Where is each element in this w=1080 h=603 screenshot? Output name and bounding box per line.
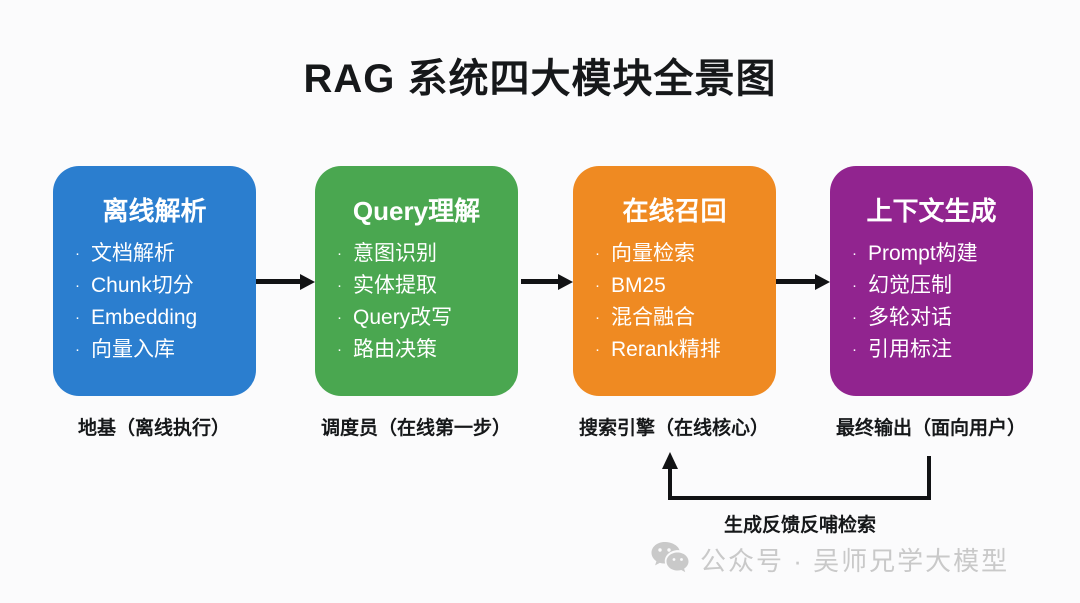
module-list-item: ·混合融合 [595, 302, 776, 334]
module-caption-online-retrieval: 搜索引擎（在线核心） [559, 413, 789, 440]
bullet-icon: · [595, 270, 611, 302]
module-list-item: ·Chunk切分 [75, 270, 256, 302]
module-list-item: ·幻觉压制 [852, 270, 1033, 302]
module-list-item: ·路由决策 [337, 334, 518, 366]
module-list-item: ·意图识别 [337, 238, 518, 270]
module-title: 上下文生成 [830, 192, 1033, 230]
bullet-icon: · [337, 302, 353, 334]
module-item-list: ·Prompt构建 ·幻觉压制 ·多轮对话 ·引用标注 [830, 238, 1033, 366]
bullet-icon: · [75, 302, 91, 334]
watermark-text: 公众号 · 吴师兄学大模型 [700, 541, 1009, 578]
bullet-icon: · [595, 302, 611, 334]
bullet-icon: · [595, 334, 611, 366]
arrow-shaft [521, 279, 559, 284]
module-title: 离线解析 [53, 192, 256, 230]
module-item-label: 向量入库 [91, 334, 175, 366]
module-item-label: 路由决策 [353, 334, 437, 366]
module-card-offline-parsing[interactable]: 离线解析 ·文档解析 ·Chunk切分 ·Embedding ·向量入库 [53, 166, 256, 396]
bullet-icon: · [595, 238, 611, 270]
arrow-head [558, 274, 573, 290]
bullet-icon: · [852, 302, 868, 334]
module-card-context-generation[interactable]: 上下文生成 ·Prompt构建 ·幻觉压制 ·多轮对话 ·引用标注 [830, 166, 1033, 396]
module-list-item: ·Prompt构建 [852, 238, 1033, 270]
wechat-icon [650, 540, 690, 579]
loop-right-segment [927, 456, 931, 500]
module-item-label: 引用标注 [868, 334, 952, 366]
module-title: 在线召回 [573, 192, 776, 230]
module-list-item: ·向量入库 [75, 334, 256, 366]
module-item-label: 混合融合 [611, 302, 695, 334]
module-item-list: ·文档解析 ·Chunk切分 ·Embedding ·向量入库 [53, 238, 256, 366]
module-card-online-retrieval[interactable]: 在线召回 ·向量检索 ·BM25 ·混合融合 ·Rerank精排 [573, 166, 776, 396]
module-list-item: ·文档解析 [75, 238, 256, 270]
feedback-loop-label: 生成反馈反哺检索 [640, 510, 960, 537]
bullet-icon: · [337, 270, 353, 302]
module-item-label: 文档解析 [91, 238, 175, 270]
module-list-item: ·引用标注 [852, 334, 1033, 366]
flow-arrow-icon [776, 276, 829, 287]
module-item-label: 多轮对话 [868, 302, 952, 334]
loop-bottom-segment [668, 496, 931, 500]
module-title: Query理解 [315, 192, 518, 230]
feedback-loop-arrow-icon [660, 452, 940, 508]
loop-left-segment [668, 468, 672, 500]
module-item-label: Chunk切分 [91, 270, 194, 302]
module-caption-context-generation: 最终输出（面向用户） [816, 413, 1046, 440]
bullet-icon: · [852, 334, 868, 366]
module-list-item: ·BM25 [595, 270, 776, 302]
module-item-label: BM25 [611, 270, 666, 302]
module-item-label: Rerank精排 [611, 334, 721, 366]
arrow-head [300, 274, 315, 290]
arrow-head [815, 274, 830, 290]
module-item-list: ·意图识别 ·实体提取 ·Query改写 ·路由决策 [315, 238, 518, 366]
flow-arrow-icon [256, 276, 314, 287]
arrow-shaft [776, 279, 816, 284]
module-item-label: 幻觉压制 [868, 270, 952, 302]
module-list-item: ·Embedding [75, 302, 256, 334]
module-item-label: 向量检索 [611, 238, 695, 270]
arrow-shaft [256, 279, 301, 284]
module-list-item: ·多轮对话 [852, 302, 1033, 334]
module-list-item: ·实体提取 [337, 270, 518, 302]
bullet-icon: · [75, 238, 91, 270]
module-card-query-understanding[interactable]: Query理解 ·意图识别 ·实体提取 ·Query改写 ·路由决策 [315, 166, 518, 396]
module-list-item: ·向量检索 [595, 238, 776, 270]
bullet-icon: · [75, 270, 91, 302]
module-item-label: Prompt构建 [868, 238, 978, 270]
diagram-canvas: RAG 系统四大模块全景图 离线解析 ·文档解析 ·Chunk切分 ·Embed… [0, 0, 1080, 603]
module-caption-offline-parsing: 地基（离线执行） [39, 413, 269, 440]
module-item-label: Embedding [91, 302, 197, 334]
bullet-icon: · [337, 334, 353, 366]
module-item-label: Query改写 [353, 302, 452, 334]
bullet-icon: · [75, 334, 91, 366]
watermark: 公众号 · 吴师兄学大模型 [650, 540, 1009, 579]
flow-arrow-icon [521, 276, 572, 287]
module-caption-query-understanding: 调度员（在线第一步） [301, 413, 531, 440]
bullet-icon: · [852, 270, 868, 302]
page-title: RAG 系统四大模块全景图 [0, 46, 1080, 104]
module-list-item: ·Rerank精排 [595, 334, 776, 366]
bullet-icon: · [337, 238, 353, 270]
loop-arrow-head [662, 452, 678, 469]
module-item-list: ·向量检索 ·BM25 ·混合融合 ·Rerank精排 [573, 238, 776, 366]
module-list-item: ·Query改写 [337, 302, 518, 334]
module-item-label: 意图识别 [353, 238, 437, 270]
module-item-label: 实体提取 [353, 270, 437, 302]
bullet-icon: · [852, 238, 868, 270]
